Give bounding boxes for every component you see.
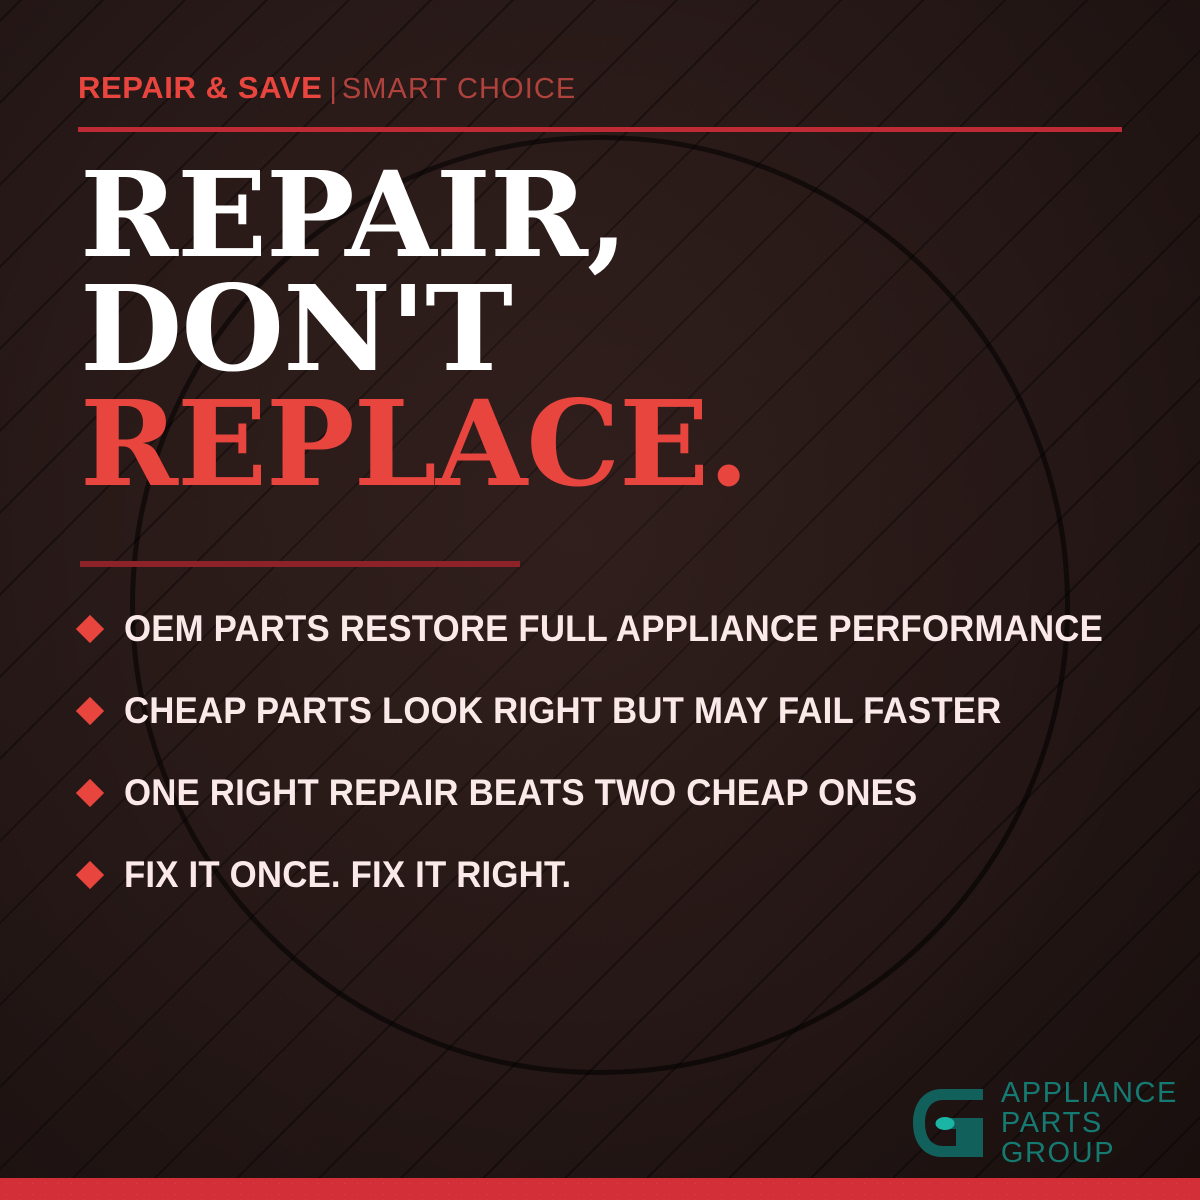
list-item: ONE RIGHT REPAIR BEATS TWO CHEAP ONES (80, 752, 1150, 834)
logo-lockup: APPLIANCE PARTS GROUP (909, 1078, 1178, 1168)
bottom-bar-texture (0, 1178, 1200, 1200)
list-item-label: OEM PARTS RESTORE FULL APPLIANCE PERFORM… (124, 608, 1103, 650)
diamond-bullet-icon (76, 615, 104, 643)
poster-canvas: REPAIR & SAVE| SMART CHOICE REPAIR, DON'… (0, 0, 1200, 1200)
eyebrow-subtitle: SMART CHOICE (342, 73, 577, 105)
list-item: OEM PARTS RESTORE FULL APPLIANCE PERFORM… (80, 588, 1150, 670)
bottom-accent-bar (0, 1178, 1200, 1200)
logo-wordmark: APPLIANCE PARTS GROUP (1001, 1078, 1178, 1168)
headline-divider-rule (80, 561, 520, 567)
logo-line-1: APPLIANCE (1001, 1078, 1178, 1108)
logo-line-2: PARTS (1001, 1108, 1178, 1138)
diamond-bullet-icon (76, 779, 104, 807)
eyebrow-line: REPAIR & SAVE| SMART CHOICE (78, 72, 1122, 104)
brand-label: REPAIR & SAVE (78, 70, 322, 105)
list-item-label: ONE RIGHT REPAIR BEATS TWO CHEAP ONES (124, 772, 917, 814)
benefits-list: OEM PARTS RESTORE FULL APPLIANCE PERFORM… (80, 588, 1150, 916)
page-title: REPAIR, DON'T REPLACE. (80, 158, 748, 501)
header-divider-rule (78, 127, 1122, 132)
headline-line-3-accent: REPLACE. (80, 387, 748, 501)
diamond-bullet-icon (76, 861, 104, 889)
logo-line-3: GROUP (1001, 1138, 1178, 1168)
eyebrow-separator: | (322, 73, 337, 105)
headline-line-1: REPAIR, (80, 158, 748, 272)
header: REPAIR & SAVE| SMART CHOICE (78, 72, 1122, 104)
diamond-bullet-icon (76, 697, 104, 725)
list-item-label: FIX IT ONCE. FIX IT RIGHT. (124, 854, 571, 896)
g-monogram-icon (909, 1083, 987, 1163)
list-item: CHEAP PARTS LOOK RIGHT BUT MAY FAIL FAST… (80, 670, 1150, 752)
list-item-label: CHEAP PARTS LOOK RIGHT BUT MAY FAIL FAST… (124, 690, 1001, 732)
headline-line-2: DON'T (80, 272, 748, 386)
list-item: FIX IT ONCE. FIX IT RIGHT. (80, 834, 1150, 916)
